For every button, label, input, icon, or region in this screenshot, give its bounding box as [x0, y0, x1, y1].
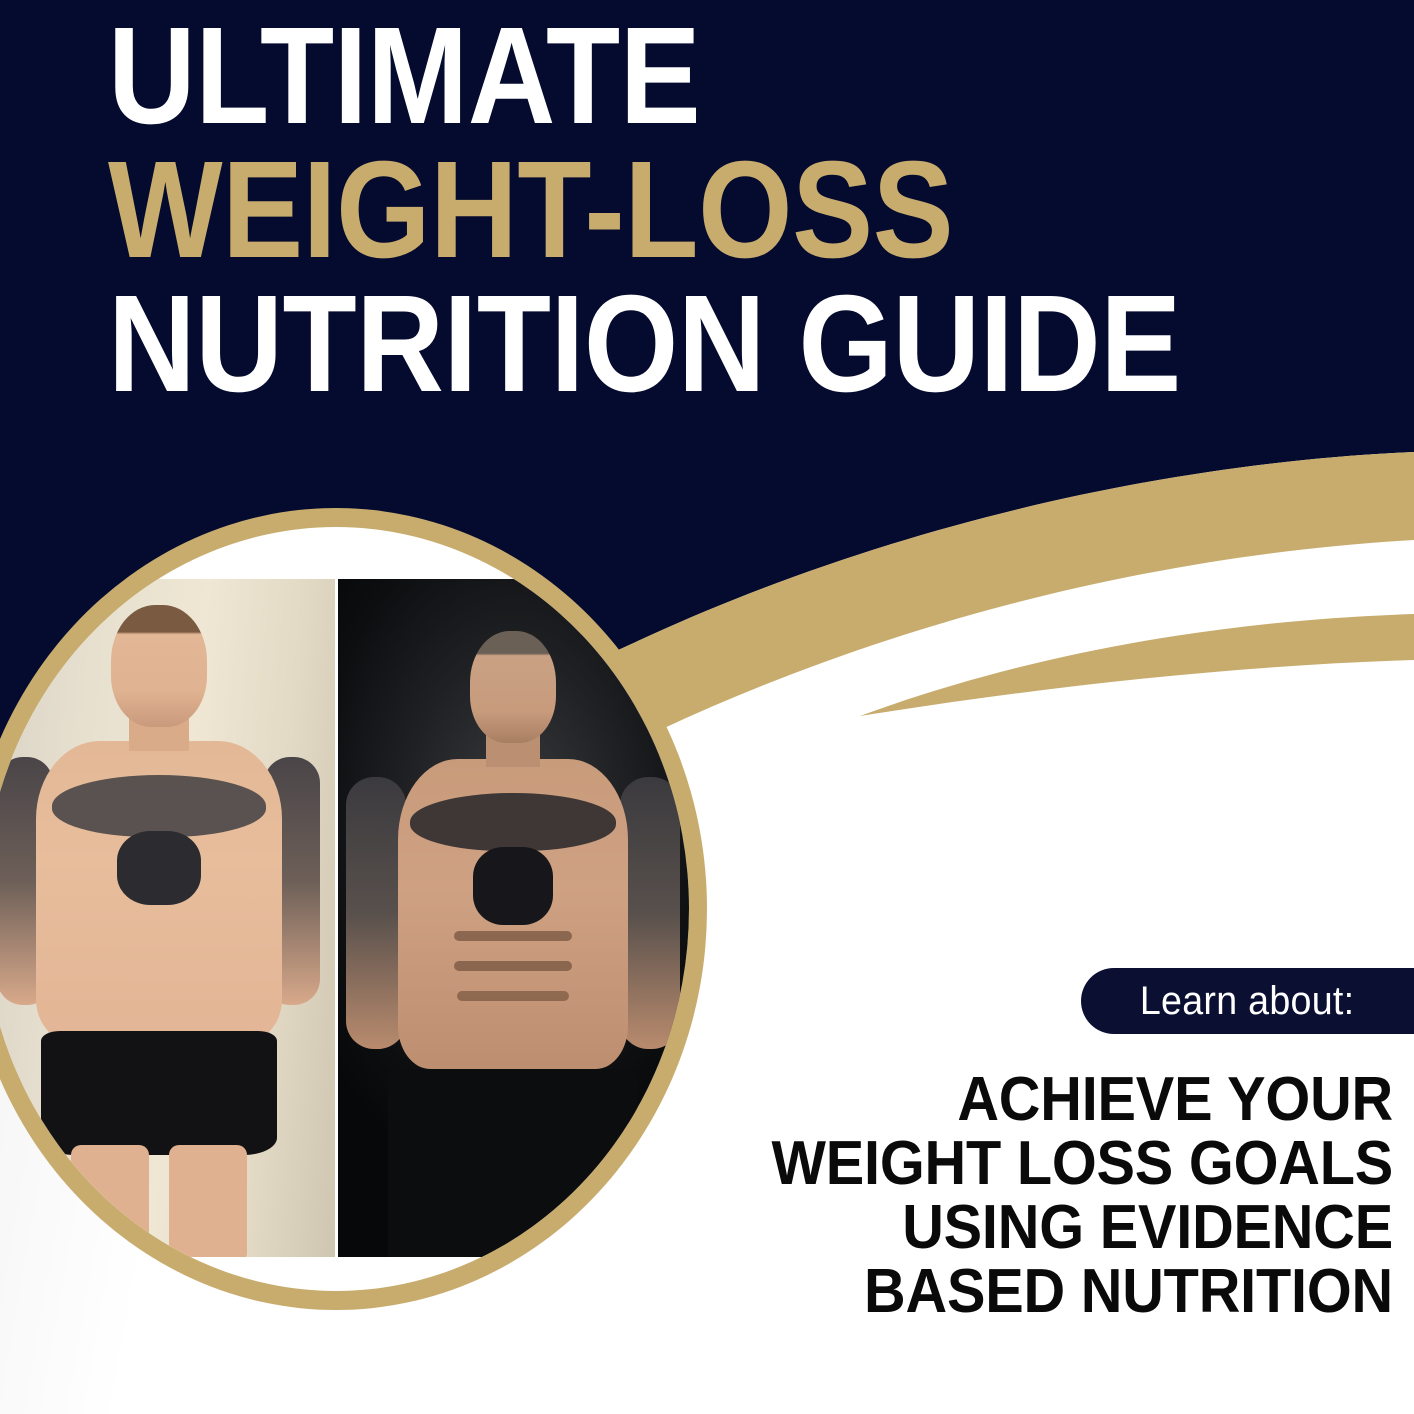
subtitle-line-3: USING EVIDENCE [742, 1196, 1393, 1260]
before-photo [0, 579, 335, 1257]
before-head [111, 605, 207, 727]
headline-line-2: WEIGHT-LOSS [108, 148, 1208, 272]
subtitle-line-2: WEIGHT LOSS GOALS [742, 1132, 1393, 1196]
photo-circle-inner [0, 527, 689, 1291]
subtitle-line-4: BASED NUTRITION [742, 1260, 1393, 1324]
before-bear-tattoo [117, 831, 201, 905]
gold-band-secondary [860, 614, 1414, 716]
learn-about-badge: Learn about: [1081, 968, 1414, 1034]
after-shorts [388, 1069, 638, 1257]
before-after-photo-pair [0, 579, 689, 1257]
after-head [470, 631, 556, 743]
after-arm-right [620, 777, 680, 1049]
poster-canvas: ULTIMATE WEIGHT-LOSS NUTRITION GUIDE [0, 0, 1414, 1414]
headline-line-1: ULTIMATE [108, 14, 1208, 138]
after-arm-left [346, 777, 406, 1049]
headline-block: ULTIMATE WEIGHT-LOSS NUTRITION GUIDE [108, 14, 1358, 407]
before-leg-left [71, 1145, 149, 1257]
subtitle-block: ACHIEVE YOUR WEIGHT LOSS GOALS USING EVI… [693, 1068, 1393, 1323]
after-bear-tattoo [473, 847, 553, 925]
after-abs-line-3 [457, 991, 569, 1001]
after-abs-line-2 [454, 961, 572, 971]
before-leg-right [169, 1145, 247, 1257]
after-photo [338, 579, 690, 1257]
before-chest-tattoo [52, 775, 266, 837]
subtitle-line-1: ACHIEVE YOUR [742, 1068, 1393, 1132]
after-abs-line-1 [454, 931, 572, 941]
headline-line-3: NUTRITION GUIDE [108, 282, 1208, 406]
learn-about-label: Learn about: [1140, 979, 1355, 1024]
before-shorts [41, 1031, 277, 1155]
photo-circle-gold-ring [0, 508, 707, 1310]
after-chest-tattoo [410, 793, 616, 851]
